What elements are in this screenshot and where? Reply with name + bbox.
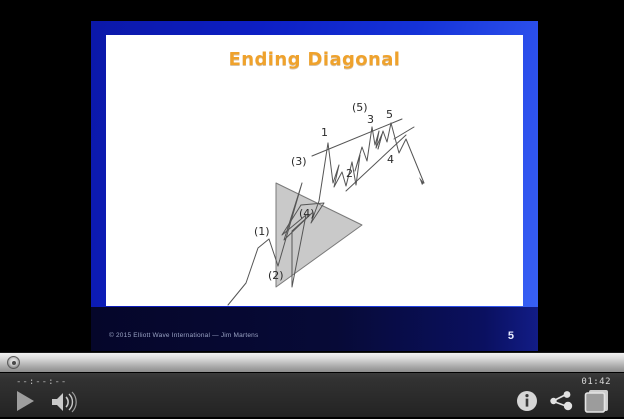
wave-label-1p: (1): [254, 225, 270, 238]
info-button[interactable]: [516, 390, 538, 412]
player-controls: --:--:-- 01:42: [0, 372, 624, 417]
share-button[interactable]: [548, 390, 574, 412]
volume-button[interactable]: [50, 391, 78, 413]
slide-canvas: Ending Diagonal: [106, 35, 523, 306]
slide-frame: Ending Diagonal: [91, 21, 538, 351]
wave-label-group: (1) (2) (3) (4) (5) 1 2 3 4 5: [254, 101, 394, 282]
diagonal-lower-trendline: [346, 135, 406, 191]
info-icon: [516, 390, 538, 412]
fullscreen-button[interactable]: [584, 388, 610, 414]
wave-label-2: 2: [346, 167, 353, 180]
elapsed-time-label: --:--:--: [16, 377, 67, 387]
slide-copyright: © 2015 Elliott Wave International — Jim …: [109, 332, 258, 339]
play-button[interactable]: [13, 389, 37, 413]
wave-path-five-collapse: [391, 123, 424, 183]
wave-label-4: 4: [387, 153, 394, 166]
share-icon: [548, 390, 574, 412]
total-time-label: 01:42: [581, 377, 611, 387]
wave-label-3p: (3): [291, 155, 307, 168]
wave-label-3: 3: [367, 113, 374, 126]
play-icon: [13, 389, 37, 413]
wave-path-four-five: [378, 123, 391, 149]
wave-label-1: 1: [321, 126, 328, 139]
wave-label-4p: (4): [299, 207, 315, 220]
elliott-wave-diagram: (1) (2) (3) (4) (5) 1 2 3 4 5: [106, 35, 523, 306]
video-stage[interactable]: Ending Diagonal: [0, 0, 624, 352]
wave-label-2p: (2): [268, 269, 284, 282]
slide-page-number: 5: [508, 330, 514, 342]
fullscreen-icon: [584, 388, 610, 414]
wave-label-5: 5: [386, 108, 393, 121]
volume-icon: [50, 391, 78, 413]
wave-path-one-two: [328, 143, 352, 187]
scrubber-handle[interactable]: [7, 356, 20, 369]
slide-lower-band: [91, 307, 538, 351]
video-player: Ending Diagonal: [0, 0, 624, 417]
timeline-scrubber[interactable]: [0, 352, 624, 372]
wave-label-5p: (5): [352, 101, 368, 114]
